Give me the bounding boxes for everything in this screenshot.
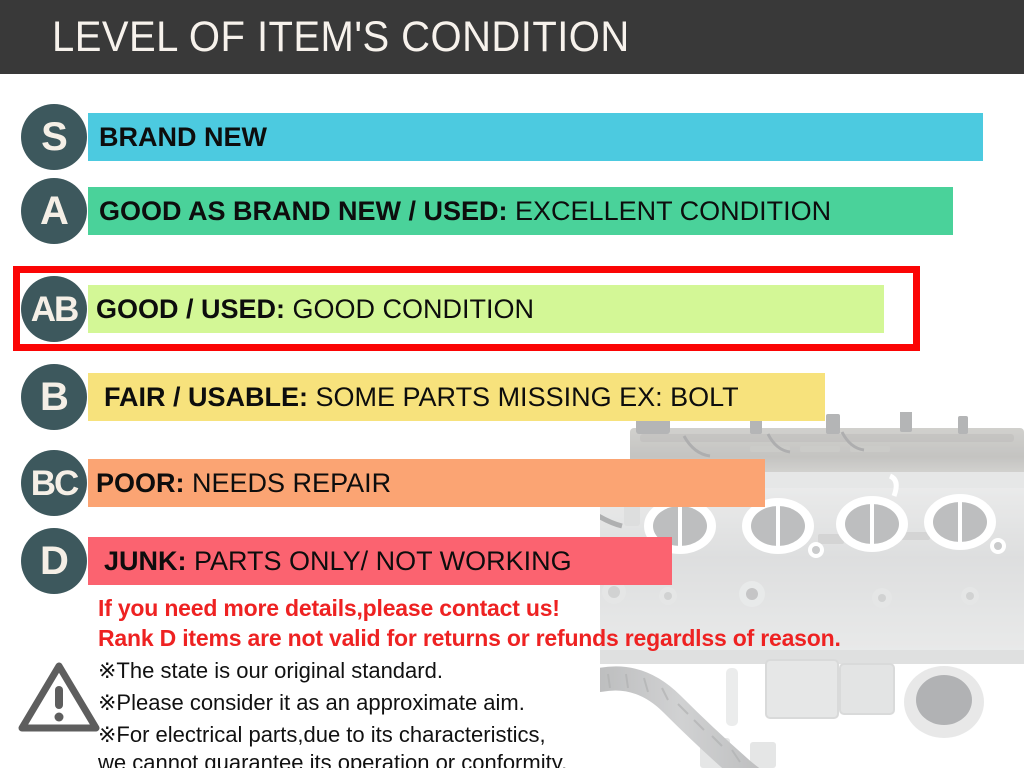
header-bar: LEVEL OF ITEM'S CONDITION [0,0,1024,74]
rank-label-d: JUNK: PARTS ONLY/ NOT WORKING [104,528,572,594]
rank-row-s: S BRAND NEW [0,104,1024,170]
rank-detail-ab: GOOD CONDITION [293,294,535,325]
condition-level-chart: LEVEL OF ITEM'S CONDITION S BRAND NEW A … [0,0,1024,768]
rank-badge-d: D [21,528,87,594]
rank-detail-a: EXCELLENT CONDITION [515,196,831,227]
notice-electrical-line: ※For electrical parts,due to its charact… [98,722,546,748]
notice-block: If you need more details,please contact … [0,592,1024,768]
rank-badge-bc: BC [21,450,87,516]
rank-label-s: BRAND NEW [99,104,267,170]
rank-badge-s: S [21,104,87,170]
rank-bold-d: JUNK: [104,546,187,577]
notice-contact-line: If you need more details,please contact … [98,595,560,622]
rank-bold-bc: POOR: [96,468,185,499]
notice-approximate-line: ※Please consider it as an approximate ai… [98,690,525,716]
rank-badge-b: B [21,364,87,430]
rank-bold-a: GOOD AS BRAND NEW / USED: [99,196,508,227]
rank-badge-a: A [21,178,87,244]
rank-badge-ab: AB [21,276,87,342]
rank-label-bc: POOR: NEEDS REPAIR [96,450,391,516]
rank-label-b: FAIR / USABLE: SOME PARTS MISSING EX: BO… [104,364,739,430]
rank-bold-b: FAIR / USABLE: [104,382,308,413]
rank-row-d: D JUNK: PARTS ONLY/ NOT WORKING [0,528,1024,594]
rank-label-ab: GOOD / USED: GOOD CONDITION [96,276,534,342]
rank-row-b: B FAIR / USABLE: SOME PARTS MISSING EX: … [0,364,1024,430]
rank-label-a: GOOD AS BRAND NEW / USED: EXCELLENT COND… [99,178,831,244]
rank-detail-bc: NEEDS REPAIR [192,468,391,499]
notice-rankd-line: Rank D items are not valid for returns o… [98,625,841,652]
rank-bold-s: BRAND NEW [99,122,267,153]
rank-bold-ab: GOOD / USED: [96,294,285,325]
rank-row-a: A GOOD AS BRAND NEW / USED: EXCELLENT CO… [0,178,1024,244]
page-title: LEVEL OF ITEM'S CONDITION [52,13,630,62]
rank-detail-b: SOME PARTS MISSING EX: BOLT [316,382,739,413]
rank-detail-d: PARTS ONLY/ NOT WORKING [194,546,572,577]
rank-row-ab: AB GOOD / USED: GOOD CONDITION [0,276,1024,342]
notice-standard-line: ※The state is our original standard. [98,658,443,684]
notice-guarantee-line: we cannot guarantee its operation or con… [98,750,567,768]
rank-row-bc: BC POOR: NEEDS REPAIR [0,450,1024,516]
